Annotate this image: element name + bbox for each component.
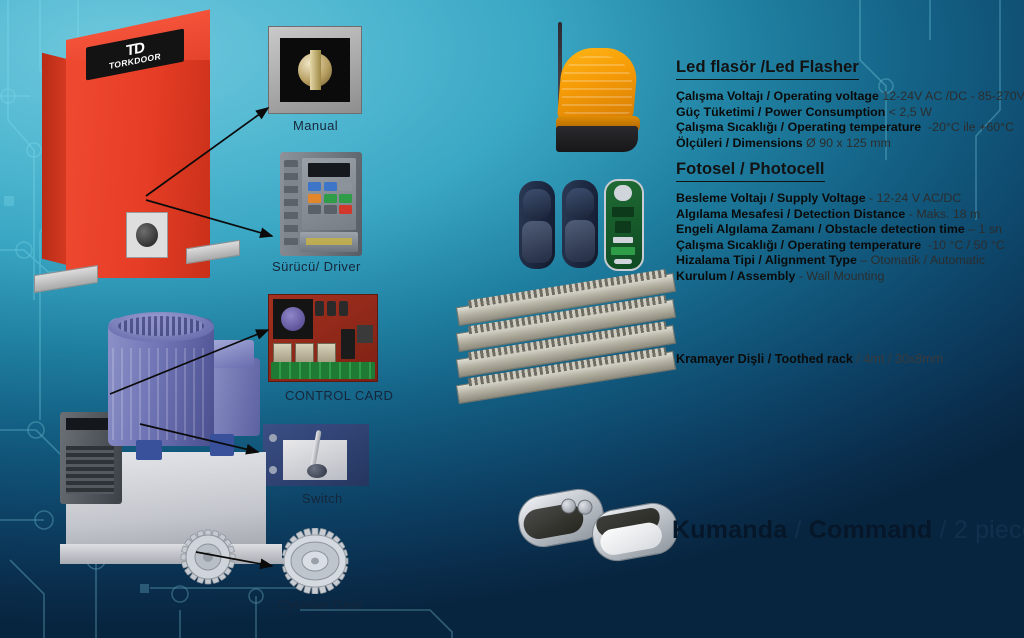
spec-term: Engeli Algılama Zamanı / Obstacle detect… xyxy=(676,222,965,236)
spec-row: Ölçüleri / Dimensions Ø 90 x 125 mm xyxy=(676,136,1024,152)
spec-term: Ölçüleri / Dimensions xyxy=(676,136,803,150)
spec-value: – Otomatik / Automatic xyxy=(860,253,985,267)
spec-term: Algılama Mesafesi / Detection Distance xyxy=(676,207,905,221)
spec-value: -20°C ile +60°C xyxy=(928,120,1014,134)
spec-row: Besleme Voltajı / Supply Voltage - 12-24… xyxy=(676,191,1005,207)
spec-value: -10 °C / 50 °C xyxy=(928,238,1005,252)
photocell-spec-block: Fotosel / Photocell Besleme Voltajı / Su… xyxy=(676,160,1005,285)
spec-value: - Wall Mounting xyxy=(799,269,885,283)
command-term-tr: Kumanda xyxy=(672,516,787,544)
spec-value: 12-24V AC /DC - 85-270V AC/DC xyxy=(882,89,1024,103)
spec-term: Çalışma Sıcaklığı / Operating temperatur… xyxy=(676,238,921,252)
toothed-rack-label: Kramayer Dişli / Toothed rack / 4mt / 30… xyxy=(676,352,943,366)
spec-row: Çalışma Sıcaklığı / Operating temperatur… xyxy=(676,120,1024,136)
spec-term: Çalışma Sıcaklığı / Operating temperatur… xyxy=(676,120,921,134)
rack-term: Kramayer Dişli / Toothed rack xyxy=(676,352,853,366)
rack-value: / 4mt / 30x8mm xyxy=(856,352,943,366)
spec-value: Ø 90 x 125 mm xyxy=(806,136,891,150)
command-separator-1: / xyxy=(787,516,808,544)
spec-value: - 12-24 V AC/DC xyxy=(869,191,961,205)
spec-row: Çalışma Voltajı / Operating voltage 12-2… xyxy=(676,89,1024,105)
command-quantity: 2 pieces xyxy=(954,516,1024,544)
led-flasher-spec-rows: Çalışma Voltajı / Operating voltage 12-2… xyxy=(676,89,1024,151)
spec-term: Kurulum / Assembly xyxy=(676,269,795,283)
spec-term: Çalışma Voltajı / Operating voltage xyxy=(676,89,879,103)
spec-value: < 2,5 W xyxy=(889,105,932,119)
command-term-en: Command xyxy=(809,516,933,544)
spec-row: Çalışma Sıcaklığı / Operating temperatur… xyxy=(676,238,1005,254)
spec-value: - Maks. 18 m xyxy=(909,207,981,221)
spec-row: Engeli Algılama Zamanı / Obstacle detect… xyxy=(676,222,1005,238)
spec-term: Güç Tüketimi / Power Consumption xyxy=(676,105,885,119)
spec-row: Algılama Mesafesi / Detection Distance -… xyxy=(676,207,1005,223)
spec-row: Güç Tüketimi / Power Consumption < 2,5 W xyxy=(676,105,1024,121)
spec-value: – 1 sn xyxy=(968,222,1002,236)
command-separator-2: / xyxy=(932,516,953,544)
led-flasher-spec-block: Led flasör /Led Flasher Çalışma Voltajı … xyxy=(676,58,1024,151)
product-diagram-canvas: TD TORKDOOR Manual Sürücü/ Driver xyxy=(0,0,1024,638)
spec-term: Hizalama Tipi / Alignment Type xyxy=(676,253,857,267)
photocell-title: Fotosel / Photocell xyxy=(676,160,825,182)
photocell-spec-rows: Besleme Voltajı / Supply Voltage - 12-24… xyxy=(676,191,1005,285)
spec-row: Kurulum / Assembly - Wall Mounting xyxy=(676,269,1005,285)
spec-row: Hizalama Tipi / Alignment Type – Otomati… xyxy=(676,253,1005,269)
spec-term: Besleme Voltajı / Supply Voltage xyxy=(676,191,866,205)
led-flasher-title: Led flasör /Led Flasher xyxy=(676,58,859,80)
command-label: Kumanda / Command / 2 pieces xyxy=(672,516,1024,545)
